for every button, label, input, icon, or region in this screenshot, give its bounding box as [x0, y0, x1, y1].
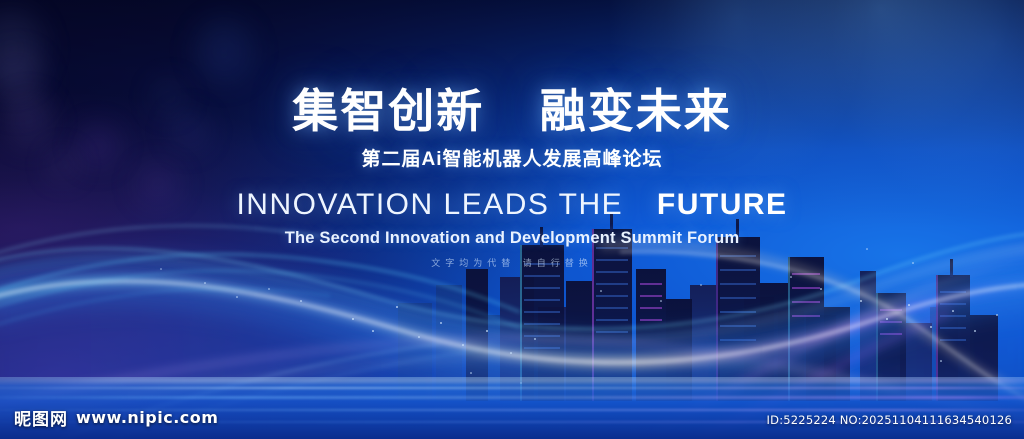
subtitle-english: The Second Innovation and Development Su… [0, 230, 1024, 247]
placeholder-note: 文字均为代替 请自行替换 [0, 259, 1024, 268]
watermark-url: www.nipic.com [76, 408, 218, 427]
headline-english: INNOVATION LEADS THE FUTURE [0, 190, 1024, 220]
title-cn-part1: 集智创新 [292, 85, 484, 137]
subtitle-chinese: 第二届Ai智能机器人发展高峰论坛 [0, 150, 1024, 169]
watermark-logo: 昵图网 [14, 405, 68, 430]
poster-canvas: 集智创新 融变未来 第二届Ai智能机器人发展高峰论坛 INNOVATION LE… [0, 0, 1024, 439]
page-title: 集智创新 融变未来 [0, 88, 1024, 134]
headline-bold-future: FUTURE [657, 188, 788, 221]
asset-id-text: ID:5225224 NO:20251104111634540126 [767, 413, 1012, 427]
watermark: 昵图网 www.nipic.com [14, 405, 218, 430]
headline-plain: INNOVATION LEADS THE [236, 188, 623, 221]
title-cn-part2: 融变未来 [540, 85, 732, 137]
